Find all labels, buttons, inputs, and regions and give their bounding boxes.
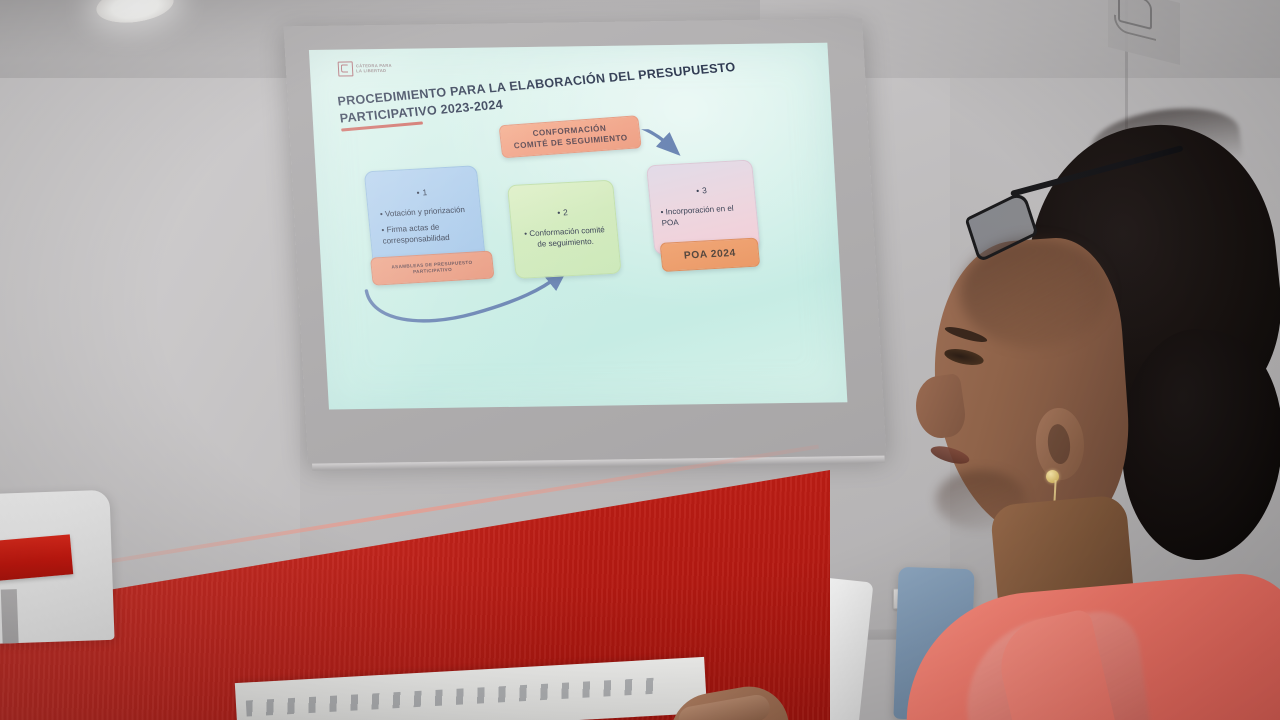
gold-earring-icon: [1046, 470, 1059, 483]
presentation-slide: CÁTEDRA PARA LA LIBERTAD PROCEDIMIENTO P…: [309, 43, 847, 410]
conformacion-banner: CONFORMACIÓN COMITÉ DE SEGUIMIENTO: [499, 115, 642, 158]
conference-room-photo: CÁTEDRA PARA LA LIBERTAD PROCEDIMIENTO P…: [0, 0, 1280, 720]
book-logo-icon: [338, 61, 354, 76]
seated-attendee: [900, 118, 1280, 720]
poa-tag-label: POA 2024: [683, 248, 736, 262]
node-2-number: • 2: [519, 205, 606, 219]
node-1-bullet-2: • Firma actas de corresponsabilidad: [377, 221, 475, 247]
diagram-node-2: • 2 • Conformación comité de seguimiento…: [507, 180, 622, 279]
process-diagram: • 1 • Votación y priorización • Firma ac…: [314, 127, 848, 410]
poa-tag: POA 2024: [660, 238, 761, 272]
asambleas-tag: ASAMBLEAS DE PRESUPUESTO PARTICIPATIVO: [370, 251, 494, 286]
node-1-bullet-1: • Votación y priorización: [376, 205, 473, 221]
institution-logo: CÁTEDRA PARA LA LIBERTAD: [338, 61, 393, 77]
node-1-number: • 1: [374, 185, 471, 200]
nose: [912, 373, 968, 441]
chair-gap: [1, 589, 19, 644]
logo-line-2: LA LIBERTAD: [356, 68, 392, 73]
projection-screen: CÁTEDRA PARA LA LIBERTAD PROCEDIMIENTO P…: [284, 18, 887, 463]
chair-cover-left: [0, 490, 115, 644]
node-3-bullet-1: • Incorporación en el POA: [660, 203, 748, 228]
chair-sash: [0, 534, 73, 583]
slide-title: PROCEDIMIENTO PARA LA ELABORACIÓN DEL PR…: [337, 55, 779, 131]
node-2-bullet-1: • Conformación comité de seguimiento.: [521, 225, 609, 250]
node-3-number: • 3: [658, 183, 745, 198]
